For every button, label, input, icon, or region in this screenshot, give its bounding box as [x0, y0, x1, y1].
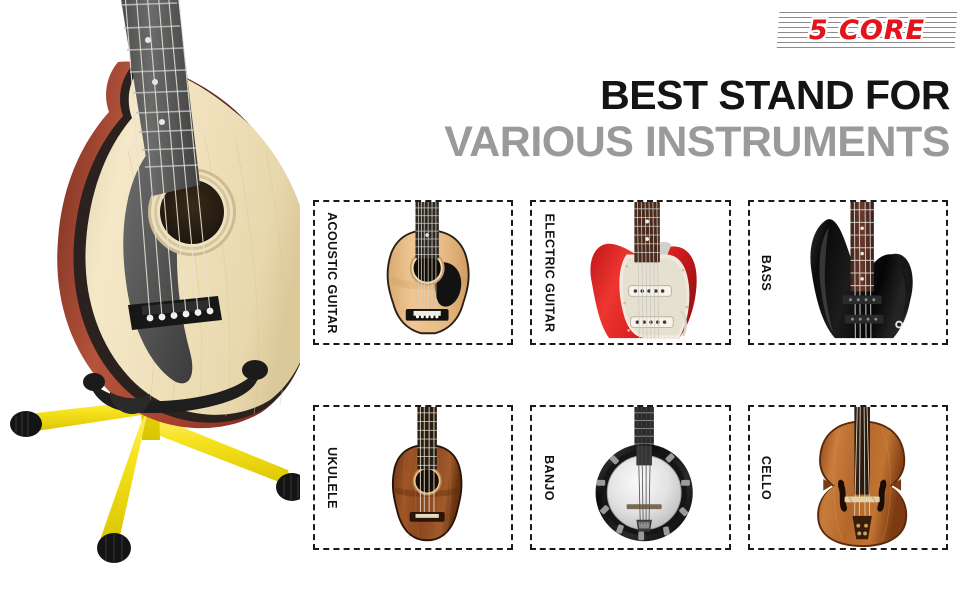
stand-foot-left — [10, 411, 42, 437]
cell-label-text: ACOUSTIC GUITAR — [325, 212, 339, 334]
bass-guitar-art — [782, 202, 942, 343]
brand-logo: 5 CORE 5 CORE — [774, 8, 960, 52]
cell-label-bass: BASS — [752, 202, 782, 343]
acoustic-guitar-art — [347, 202, 507, 343]
headline-secondary: VARIOUS INSTRUMENTS — [444, 118, 950, 167]
cell-label-banjo: BANJO — [534, 407, 564, 548]
brand-logo-text: 5 CORE — [774, 8, 960, 52]
cell-label-text: UKULELE — [325, 447, 339, 509]
grid-cell-electric-guitar[interactable]: ELECTRIC GUITAR — [530, 200, 730, 345]
grid-cell-ukulele[interactable]: UKULELE — [313, 405, 513, 550]
cell-label-electric-guitar: ELECTRIC GUITAR — [534, 202, 564, 343]
acoustic-guitar-on-stand-illustration — [0, 0, 300, 600]
grid-cell-cello[interactable]: CELLO — [748, 405, 948, 550]
cello-art — [782, 407, 942, 548]
cell-label-text: ELECTRIC GUITAR — [542, 213, 556, 332]
cell-label-acoustic-guitar: ACOUSTIC GUITAR — [317, 202, 347, 343]
ukulele-art — [347, 407, 507, 548]
instrument-grid: ACOUSTIC GUITAR — [313, 200, 948, 550]
hero-product-image — [0, 0, 300, 600]
cell-label-ukulele: UKULELE — [317, 407, 347, 548]
electric-guitar-art — [564, 202, 724, 343]
cell-label-cello: CELLO — [752, 407, 782, 548]
banjo-art — [564, 407, 724, 548]
grid-cell-bass[interactable]: BASS — [748, 200, 948, 345]
cell-label-text: BANJO — [542, 455, 556, 501]
grid-cell-acoustic-guitar[interactable]: ACOUSTIC GUITAR — [313, 200, 513, 345]
grid-cell-banjo[interactable]: BANJO — [530, 405, 730, 550]
marketing-banner: 5 CORE 5 CORE BEST STAND FOR VARIOUS INS… — [0, 0, 970, 600]
cell-label-text: CELLO — [760, 455, 774, 499]
cell-label-text: BASS — [760, 254, 774, 290]
headline-primary: BEST STAND FOR — [600, 72, 950, 119]
